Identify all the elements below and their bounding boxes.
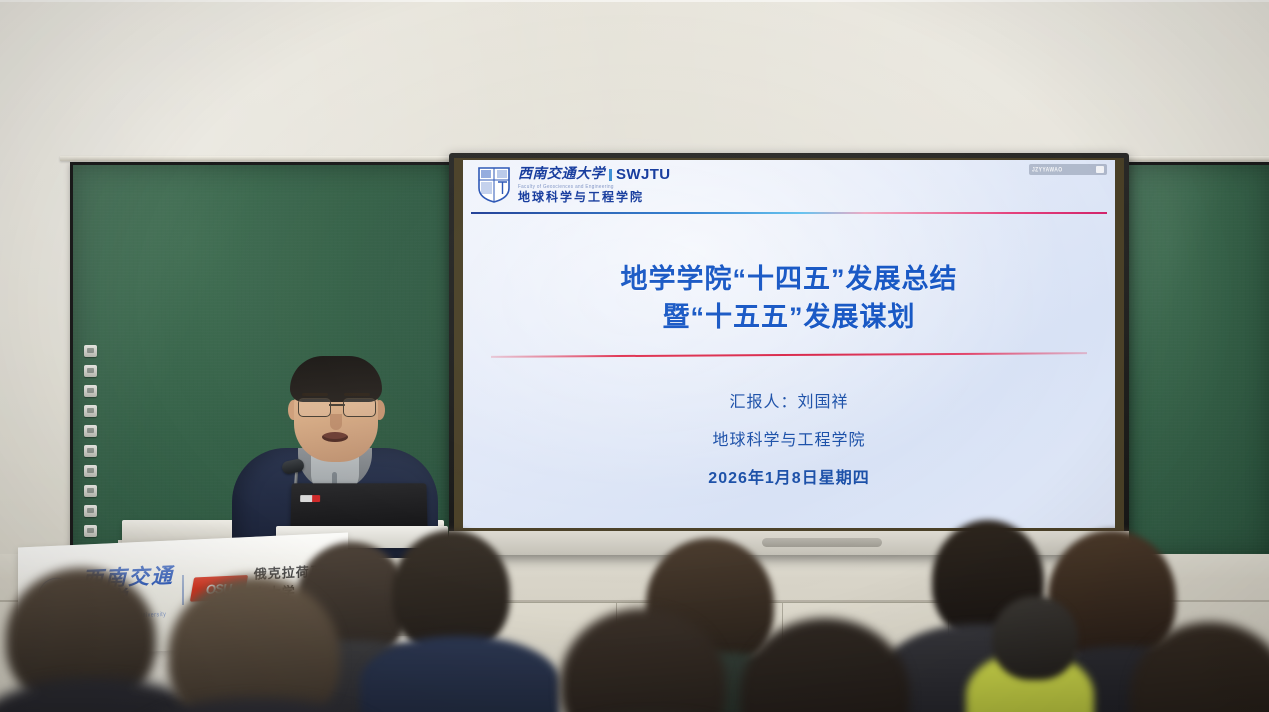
slide-header: 西南交通大学 SWJTU Faculty of Geosciences and … <box>477 166 671 204</box>
glasses-lens-right <box>343 398 376 417</box>
audience-head <box>992 596 1078 680</box>
magnet-clip-icon <box>84 405 97 417</box>
magnet-clip-icon <box>84 365 97 377</box>
slide-date: 2026年1月8日星期四 <box>463 464 1115 488</box>
magnet-clip-icon <box>84 445 97 457</box>
university-abbr: SWJTU <box>616 167 671 182</box>
slide-affiliation: 地球科学与工程学院 <box>463 426 1115 450</box>
magnet-clip-icon <box>84 345 97 357</box>
panel-osd-toolbar[interactable]: JZYYAWAO <box>1029 164 1107 175</box>
audience-shoulders <box>360 636 560 712</box>
slide-title: 地学学院“十四五”发展总结 暨“十五五”发展谋划 <box>463 260 1115 337</box>
university-name-cn: 西南交通大学 <box>518 168 605 182</box>
slide-title-line1: 地学学院“十四五”发展总结 <box>621 264 958 294</box>
glasses-icon <box>298 398 376 415</box>
slide-presenter: 汇报人：刘国祥 <box>463 388 1115 412</box>
magnet-clip-icon <box>84 485 97 497</box>
presenter-mouth <box>322 432 348 442</box>
slide-header-text: 西南交通大学 SWJTU Faculty of Geosciences and … <box>518 167 671 204</box>
magnet-clip-icon <box>84 385 97 397</box>
audience-foreground <box>0 500 1269 712</box>
slide-title-rule <box>491 352 1087 358</box>
slide-title-line2: 暨“十五五”发展谋划 <box>463 298 1115 336</box>
presenter-brow-right <box>344 393 370 396</box>
magnet-clip-icon <box>84 425 97 437</box>
chalkboard-sheen-right <box>1125 165 1269 557</box>
panel-osd-button-icon[interactable] <box>1096 166 1104 173</box>
presenter-brow-left <box>302 393 328 396</box>
slide-header-divider <box>471 212 1107 214</box>
header-accent-bar <box>609 169 612 181</box>
slide-header-row1: 西南交通大学 SWJTU <box>518 167 671 182</box>
magnet-clip-icon <box>84 465 97 477</box>
panel-osd-label: JZYYAWAO <box>1032 166 1063 174</box>
faculty-name-cn: 地球科学与工程学院 <box>518 191 671 203</box>
faculty-name-en: Faculty of Geosciences and Engineering <box>518 184 671 190</box>
ceiling-edge <box>0 0 1269 2</box>
swjtu-crest-icon <box>477 166 511 204</box>
presenter-nose <box>330 414 342 430</box>
glasses-lens-left <box>298 398 331 417</box>
lecture-photo-scene: 西南交通大学 SWJTU Faculty of Geosciences and … <box>0 0 1269 712</box>
presentation-slide: 西南交通大学 SWJTU Faculty of Geosciences and … <box>463 160 1115 528</box>
